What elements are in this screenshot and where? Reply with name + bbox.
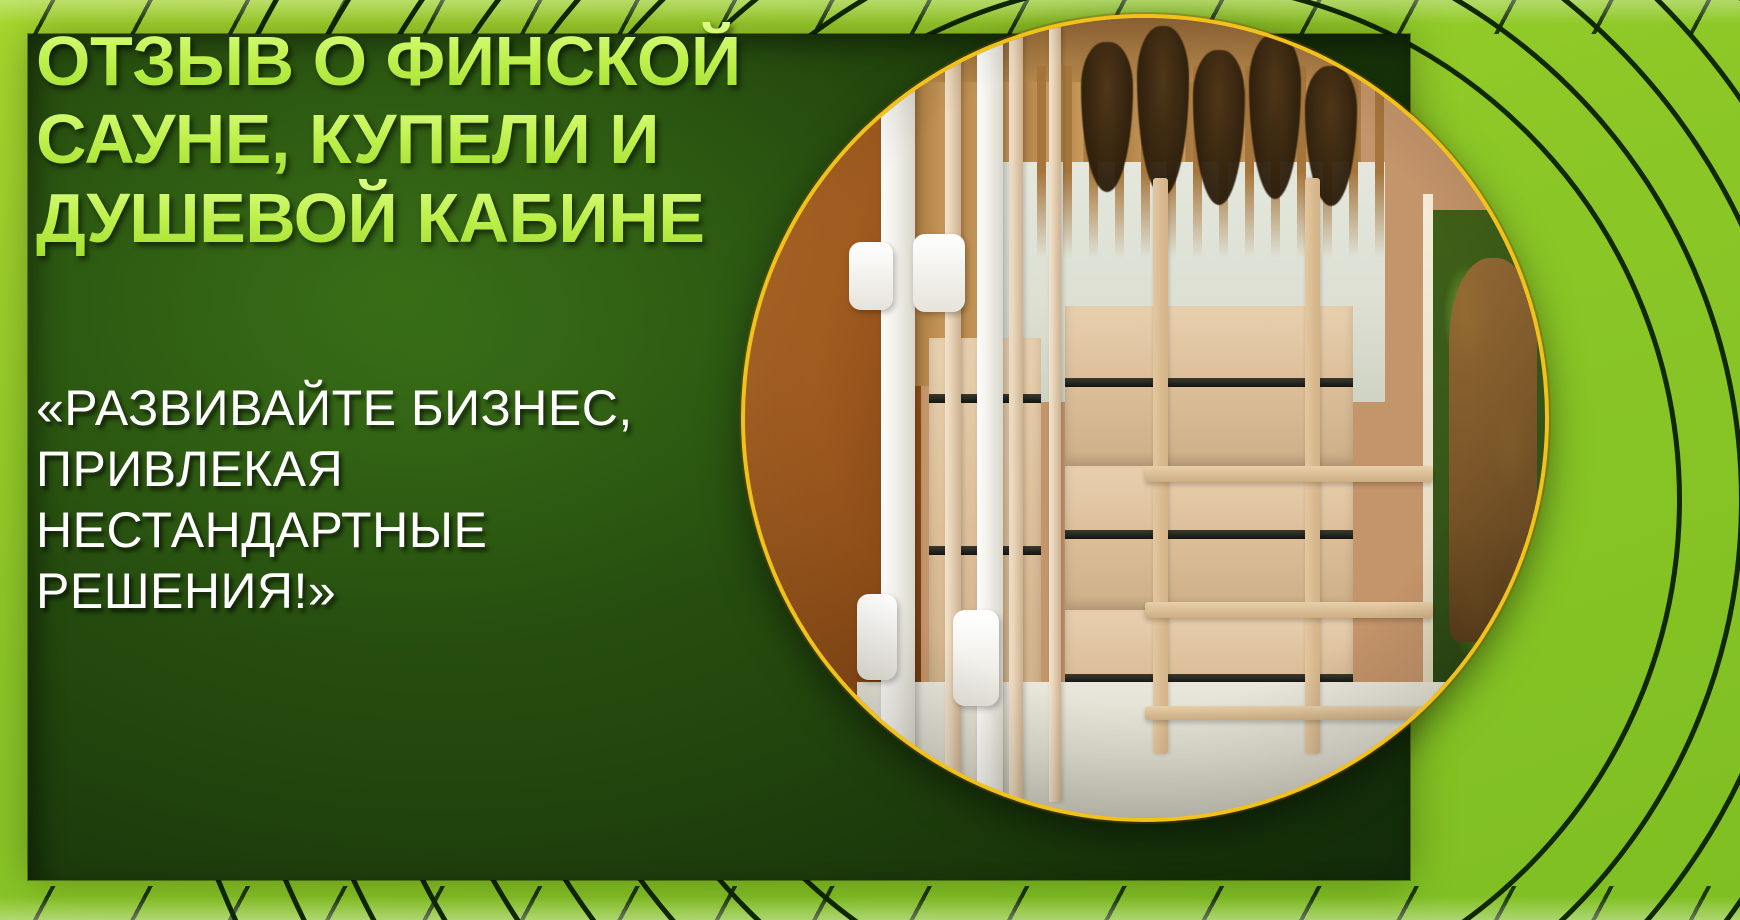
headline-line-2: САУНЕ, КУПЕЛИ И <box>36 100 796 178</box>
photo-ladder-step <box>1145 602 1433 618</box>
subheadline-quote: «РАЗВИВАЙТЕ БИЗНЕС, ПРИВЛЕКАЯ НЕСТАНДАРТ… <box>36 378 756 622</box>
photo-wood-post <box>1009 34 1023 802</box>
photo-wall-hook <box>913 234 965 312</box>
photo-ladder-step <box>1145 466 1433 482</box>
frame-slash-texture-bottom <box>0 886 1740 920</box>
photo-wood-post <box>1049 26 1061 802</box>
photo-wall-hook <box>857 594 897 680</box>
headline-line-1: ОТЗЫВ О ФИНСКОЙ <box>36 22 796 100</box>
subheadline-line-2: ПРИВЛЕКАЯ <box>36 439 756 500</box>
photo-wall-hook <box>849 242 893 310</box>
headline-line-3: ДУШЕВОЙ КАБИНЕ <box>36 179 796 257</box>
photo-white-post <box>881 18 915 818</box>
promo-banner: ОТЗЫВ О ФИНСКОЙ САУНЕ, КУПЕЛИ И ДУШЕВОЙ … <box>0 0 1740 920</box>
photo-ladder-step <box>1145 706 1433 720</box>
subheadline-line-1: «РАЗВИВАЙТЕ БИЗНЕС, <box>36 378 756 439</box>
sauna-photo-image <box>745 18 1545 818</box>
photo-wall-hook <box>953 610 999 706</box>
sauna-photo-circle <box>745 18 1545 818</box>
headline: ОТЗЫВ О ФИНСКОЙ САУНЕ, КУПЕЛИ И ДУШЕВОЙ … <box>36 22 796 257</box>
subheadline-line-3: НЕСТАНДАРТНЫЕ <box>36 500 756 561</box>
photo-wood-slab <box>1449 258 1537 642</box>
subheadline-line-4: РЕШЕНИЯ!» <box>36 561 756 622</box>
